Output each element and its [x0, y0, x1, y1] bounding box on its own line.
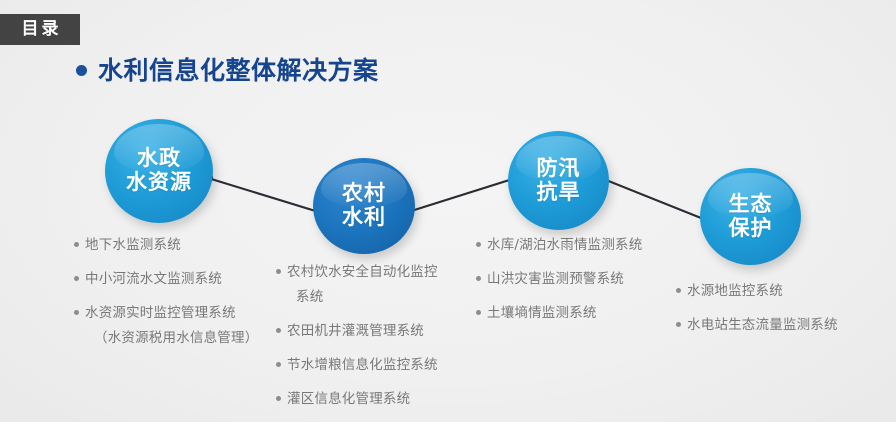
list-item[interactable]: 地下水监测系统	[74, 235, 289, 256]
list-item-label: 土壤墒情监测系统	[487, 303, 597, 324]
list-item[interactable]: 农村饮水安全自动化监控	[276, 262, 476, 283]
list-item-label: 灌区信息化管理系统	[287, 389, 410, 410]
node-label-line-2: 抗旱	[537, 181, 581, 205]
list-item[interactable]: （水资源税用水信息管理）	[74, 328, 289, 349]
connector-node1-node2	[208, 178, 322, 213]
bullet-column-fangxun: 水库/湖泊水雨情监测系统山洪灾害监测预警系统土壤墒情监测系统	[476, 235, 686, 337]
bullet-dot-icon	[676, 322, 681, 327]
node-shuizheng-shuiziyuan[interactable]: 水政 水资源	[105, 119, 213, 223]
node-label-line-1: 防汛	[537, 157, 581, 181]
node-nongcun-shuili[interactable]: 农村 水利	[313, 158, 415, 254]
list-item[interactable]: 水资源实时监控管理系统	[74, 303, 289, 324]
list-item-label: 水资源实时监控管理系统	[85, 303, 236, 324]
page-title: 水利信息化整体解决方案	[76, 58, 379, 83]
section-tag-label: 目录	[19, 21, 62, 38]
list-item[interactable]: 水库/湖泊水雨情监测系统	[476, 235, 686, 256]
list-item-label: 水源地监控系统	[687, 281, 783, 302]
list-item-label: 水电站生态流量监测系统	[687, 315, 838, 336]
bullet-dot-icon	[476, 242, 481, 247]
list-item[interactable]: 农田机井灌溉管理系统	[276, 321, 476, 342]
list-item-label: 地下水监测系统	[85, 235, 181, 256]
list-item-label: 中小河流水文监测系统	[85, 269, 222, 290]
bullet-dot-icon	[276, 328, 281, 333]
list-item-label: 山洪灾害监测预警系统	[487, 269, 624, 290]
bullet-column-shengtai: 水源地监控系统水电站生态流量监测系统	[676, 281, 881, 349]
connector-node2-node3	[408, 177, 519, 212]
bullet-dot-icon	[74, 310, 79, 315]
node-label-line-1: 农村	[342, 182, 386, 206]
list-item[interactable]: 节水增粮信息化监控系统	[276, 355, 476, 376]
node-shengtai-baohu[interactable]: 生态 保护	[700, 168, 801, 265]
connector-node3-node4	[601, 178, 711, 222]
node-label-line-2: 保护	[729, 217, 773, 241]
node-fangxun-kanghan[interactable]: 防汛 抗旱	[508, 131, 609, 230]
list-item-label: 农村饮水安全自动化监控	[287, 262, 438, 283]
bullet-dot-icon	[74, 242, 79, 247]
bullet-dot-icon	[276, 269, 281, 274]
slide-bottom-strip	[0, 422, 896, 429]
list-item[interactable]: 土壤墒情监测系统	[476, 303, 686, 324]
bullet-dot-icon	[74, 335, 79, 340]
node-label-line-1: 生态	[729, 193, 773, 217]
node-label-line-2: 水资源	[126, 171, 192, 195]
bullet-column-nongcun: 农村饮水安全自动化监控系统农田机井灌溉管理系统节水增粮信息化监控系统灌区信息化管…	[276, 262, 476, 423]
bullet-dot-icon	[74, 276, 79, 281]
list-item[interactable]: 灌区信息化管理系统	[276, 389, 476, 410]
list-item[interactable]: 系统	[276, 287, 476, 308]
bullet-dot-icon	[276, 396, 281, 401]
list-item[interactable]: 水源地监控系统	[676, 281, 881, 302]
bullet-column-shuizheng: 地下水监测系统中小河流水文监测系统水资源实时监控管理系统（水资源税用水信息管理）	[74, 235, 289, 362]
page-title-text: 水利信息化整体解决方案	[98, 58, 379, 83]
bullet-dot-icon	[276, 362, 281, 367]
bullet-dot-icon	[276, 294, 281, 299]
node-label-line-2: 水利	[342, 206, 386, 230]
list-item-label: 农田机井灌溉管理系统	[287, 321, 424, 342]
section-tag: 目录	[0, 14, 80, 45]
slide-canvas: 目录 水利信息化整体解决方案 水政 水资源 农村 水利 防汛 抗旱 生态 保护 …	[0, 0, 896, 429]
list-item[interactable]: 山洪灾害监测预警系统	[476, 269, 686, 290]
list-item[interactable]: 水电站生态流量监测系统	[676, 315, 881, 336]
bullet-dot-icon	[476, 276, 481, 281]
list-item-label: 系统	[287, 287, 323, 308]
bullet-dot-icon	[476, 310, 481, 315]
list-item-label: 水库/湖泊水雨情监测系统	[487, 235, 642, 256]
list-item-label: （水资源税用水信息管理）	[85, 328, 258, 349]
node-label-line-1: 水政	[137, 147, 181, 171]
list-item-label: 节水增粮信息化监控系统	[287, 355, 438, 376]
list-item[interactable]: 中小河流水文监测系统	[74, 269, 289, 290]
bullet-dot-icon	[676, 288, 681, 293]
bullet-dot-icon	[76, 65, 87, 76]
